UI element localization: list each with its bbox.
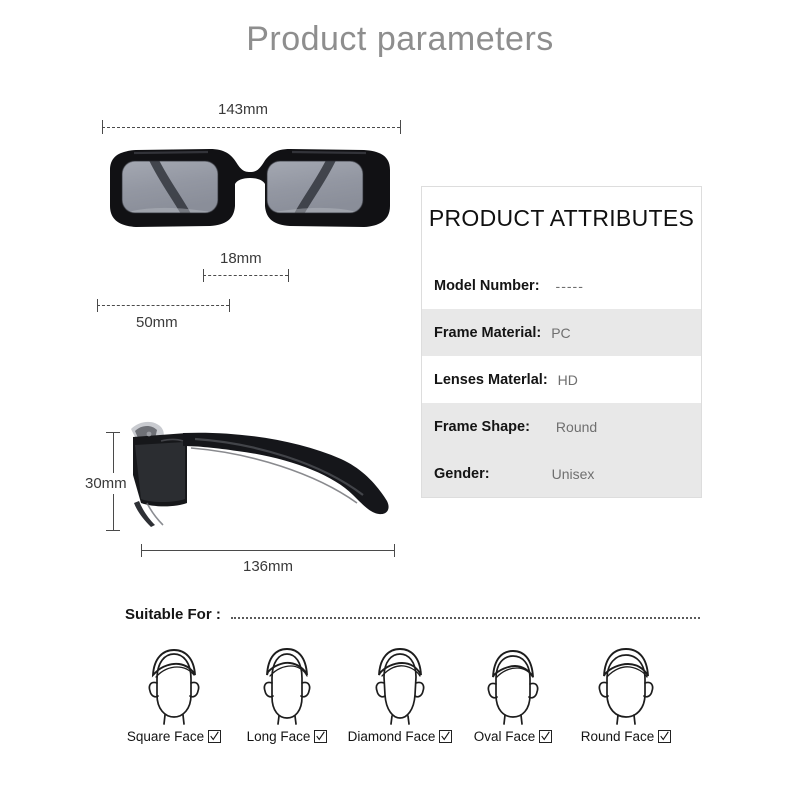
attribute-value: Unisex — [552, 466, 595, 482]
attribute-key: Lenses Materlal: — [434, 372, 548, 388]
product-attributes-panel: PRODUCT ATTRIBUTES Model Number: ----- F… — [421, 186, 702, 498]
attribute-key: Frame Material: — [434, 325, 541, 341]
dimension-cap-right-lens-width — [229, 299, 230, 312]
face-checkbox[interactable] — [658, 730, 671, 743]
dimension-cap-bottom-lens-height — [106, 530, 120, 531]
attribute-key: Gender: — [434, 466, 490, 482]
attribute-value: PC — [551, 325, 570, 341]
attribute-value: HD — [558, 372, 578, 388]
attribute-row-frame-shape: Frame Shape: Round — [422, 403, 701, 450]
dimension-line-lens-width — [97, 305, 229, 306]
dimension-cap-left-front-width — [102, 120, 103, 134]
dimension-cap-left-bridge-width — [203, 269, 204, 282]
face-caption: Long Face — [247, 729, 328, 744]
face-item-round: Round Face — [570, 645, 682, 744]
face-label: Diamond Face — [348, 729, 436, 744]
diamond-face-icon — [358, 645, 442, 727]
sunglasses-front-view — [100, 140, 400, 240]
suitable-for-label: Suitable For : — [125, 606, 221, 623]
dimension-cap-left-lens-width — [97, 299, 98, 312]
dimension-label-front-width: 143mm — [218, 101, 268, 118]
face-item-diamond: Diamond Face — [344, 645, 456, 744]
page-title: Product parameters — [0, 20, 800, 59]
dimension-label-temple-length: 136mm — [243, 558, 293, 575]
face-item-oval: Oval Face — [457, 645, 569, 744]
dimension-cap-right-front-width — [400, 120, 401, 134]
long-face-icon — [245, 645, 329, 727]
face-item-square: Square Face — [118, 645, 230, 744]
suitable-for-dotted-rule — [231, 617, 700, 619]
dimension-line-temple-length — [141, 550, 394, 551]
face-checkbox[interactable] — [208, 730, 221, 743]
face-label: Round Face — [581, 729, 655, 744]
dimension-line-front-width — [102, 127, 400, 128]
face-caption: Square Face — [127, 729, 221, 744]
face-item-long: Long Face — [231, 645, 343, 744]
attribute-value: ----- — [556, 278, 584, 294]
face-label: Long Face — [247, 729, 311, 744]
attribute-key: Model Number: — [434, 278, 540, 294]
face-checkbox[interactable] — [539, 730, 552, 743]
dimension-cap-left-temple-length — [141, 544, 142, 557]
attribute-row-frame-material: Frame Material: PC — [422, 309, 701, 356]
attribute-value: Round — [556, 419, 597, 435]
attribute-key: Frame Shape: — [434, 419, 530, 435]
face-label: Square Face — [127, 729, 204, 744]
dimension-label-lens-height: 30mm — [84, 473, 128, 494]
dimension-line-bridge-width — [203, 275, 288, 276]
face-caption: Oval Face — [474, 729, 553, 744]
sunglasses-side-view — [125, 415, 415, 535]
attributes-panel-title: PRODUCT ATTRIBUTES — [422, 205, 701, 232]
round-face-icon — [584, 645, 668, 727]
face-caption: Round Face — [581, 729, 672, 744]
face-checkbox[interactable] — [439, 730, 452, 743]
dimension-cap-top-lens-height — [106, 432, 120, 433]
dimension-label-lens-width: 50mm — [136, 314, 178, 331]
face-label: Oval Face — [474, 729, 536, 744]
dimension-cap-right-temple-length — [394, 544, 395, 557]
oval-face-icon — [471, 645, 555, 727]
face-caption: Diamond Face — [348, 729, 453, 744]
attributes-list: Model Number: ----- Frame Material: PC L… — [422, 262, 701, 497]
dimension-cap-right-bridge-width — [288, 269, 289, 282]
attribute-row-gender: Gender: Unisex — [422, 450, 701, 497]
dimension-label-bridge-width: 18mm — [220, 250, 262, 267]
attribute-row-lenses-material: Lenses Materlal: HD — [422, 356, 701, 403]
square-face-icon — [132, 645, 216, 727]
attribute-row-model-number: Model Number: ----- — [422, 262, 701, 309]
face-shape-list: Square Face Long Face — [118, 645, 682, 744]
suitable-for-section: Suitable For : — [125, 606, 700, 623]
face-checkbox[interactable] — [314, 730, 327, 743]
